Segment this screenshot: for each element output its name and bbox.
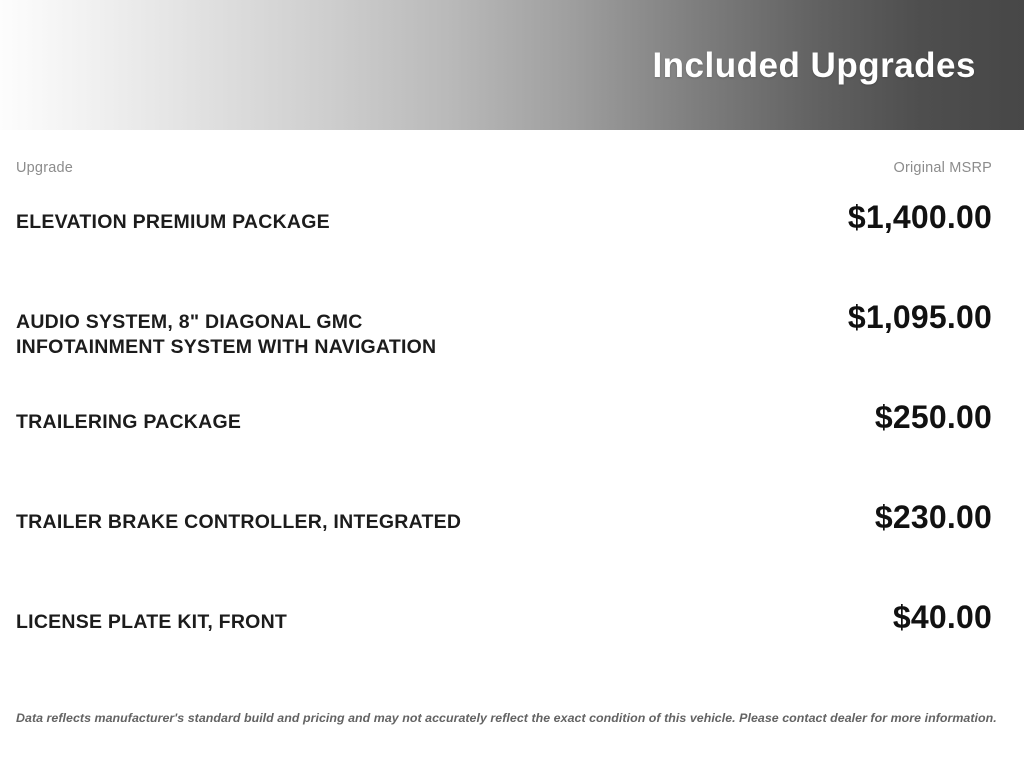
upgrade-name-line: TRAILERING PACKAGE bbox=[16, 410, 241, 435]
upgrade-name-line: TRAILER BRAKE CONTROLLER, INTEGRATED bbox=[16, 510, 461, 535]
upgrade-name: LICENSE PLATE KIT, FRONT bbox=[16, 590, 287, 635]
upgrade-name-line: INFOTAINMENT SYSTEM WITH NAVIGATION bbox=[16, 335, 436, 360]
table-column-headers: Upgrade Original MSRP bbox=[16, 130, 992, 176]
header-banner: Included Upgrades bbox=[0, 0, 1024, 130]
table-row: TRAILERING PACKAGE $250.00 bbox=[16, 390, 992, 490]
upgrade-price: $250.00 bbox=[875, 390, 992, 434]
upgrade-name: AUDIO SYSTEM, 8" DIAGONAL GMC INFOTAINME… bbox=[16, 290, 436, 360]
disclaimer-text: Data reflects manufacturer's standard bu… bbox=[16, 710, 1008, 726]
upgrade-name-line: AUDIO SYSTEM, 8" DIAGONAL GMC bbox=[16, 310, 436, 335]
upgrades-table: Upgrade Original MSRP ELEVATION PREMIUM … bbox=[0, 130, 1024, 768]
upgrade-price: $40.00 bbox=[893, 590, 992, 634]
upgrade-name-line: LICENSE PLATE KIT, FRONT bbox=[16, 610, 287, 635]
table-row: LICENSE PLATE KIT, FRONT $40.00 bbox=[16, 590, 992, 690]
upgrade-price: $230.00 bbox=[875, 490, 992, 534]
upgrade-price: $1,095.00 bbox=[848, 290, 992, 334]
column-header-upgrade: Upgrade bbox=[16, 160, 73, 176]
upgrade-name: TRAILER BRAKE CONTROLLER, INTEGRATED bbox=[16, 490, 461, 535]
upgrades-row-list: ELEVATION PREMIUM PACKAGE $1,400.00 AUDI… bbox=[16, 190, 992, 690]
page-title: Included Upgrades bbox=[652, 48, 976, 83]
upgrade-name-line: ELEVATION PREMIUM PACKAGE bbox=[16, 210, 330, 235]
table-row: ELEVATION PREMIUM PACKAGE $1,400.00 bbox=[16, 190, 992, 290]
table-row: TRAILER BRAKE CONTROLLER, INTEGRATED $23… bbox=[16, 490, 992, 590]
included-upgrades-page: Included Upgrades Upgrade Original MSRP … bbox=[0, 0, 1024, 768]
upgrade-price: $1,400.00 bbox=[848, 190, 992, 234]
upgrade-name: TRAILERING PACKAGE bbox=[16, 390, 241, 435]
column-header-original-msrp: Original MSRP bbox=[894, 160, 993, 176]
upgrade-name: ELEVATION PREMIUM PACKAGE bbox=[16, 190, 330, 235]
table-row: AUDIO SYSTEM, 8" DIAGONAL GMC INFOTAINME… bbox=[16, 290, 992, 390]
